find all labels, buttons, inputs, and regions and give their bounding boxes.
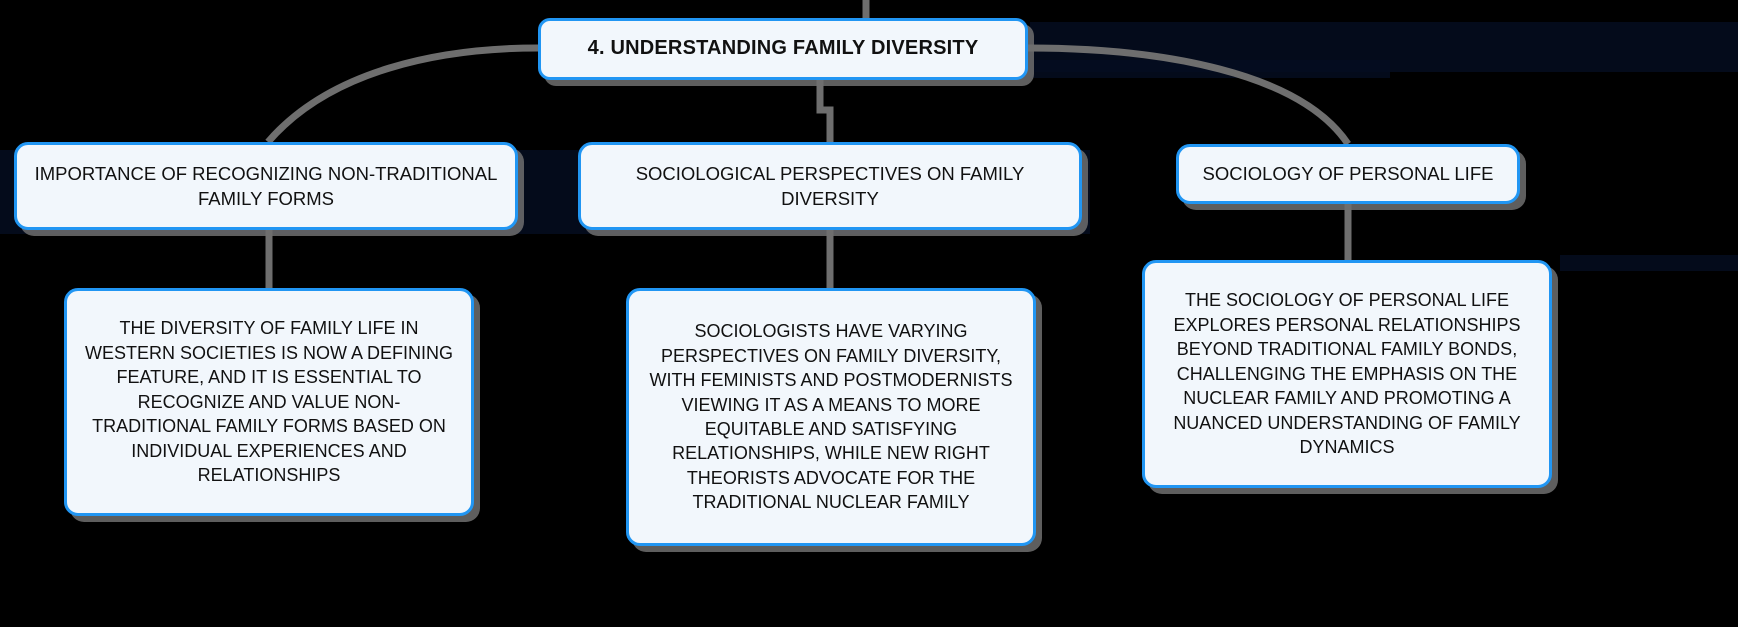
node-leaf-3[interactable]: THE SOCIOLOGY OF PERSONAL LIFE EXPLORES … xyxy=(1142,260,1552,488)
connector-root-to-branch-1 xyxy=(268,48,538,142)
mindmap-canvas: 4. UNDERSTANDING FAMILY DIVERSITY IMPORT… xyxy=(0,0,1738,627)
node-leaf-1-detail: THE DIVERSITY OF FAMILY LIFE IN WESTERN … xyxy=(67,316,471,487)
connector-root-to-branch-2 xyxy=(820,80,830,142)
node-branch-1[interactable]: IMPORTANCE OF RECOGNIZING NON-TRADITIONA… xyxy=(14,142,518,230)
node-branch-3[interactable]: SOCIOLOGY OF PERSONAL LIFE xyxy=(1176,144,1520,204)
node-leaf-1[interactable]: THE DIVERSITY OF FAMILY LIFE IN WESTERN … xyxy=(64,288,474,516)
connector-root-to-branch-3 xyxy=(1028,48,1348,144)
node-branch-1-label: IMPORTANCE OF RECOGNIZING NON-TRADITIONA… xyxy=(17,161,515,211)
node-root[interactable]: 4. UNDERSTANDING FAMILY DIVERSITY xyxy=(538,18,1028,80)
node-root-label: 4. UNDERSTANDING FAMILY DIVERSITY xyxy=(541,35,1025,62)
node-branch-3-label: SOCIOLOGY OF PERSONAL LIFE xyxy=(1179,161,1517,186)
node-branch-2-label: SOCIOLOGICAL PERSPECTIVES ON FAMILY DIVE… xyxy=(581,161,1079,211)
node-leaf-2-detail: SOCIOLOGISTS HAVE VARYING PERSPECTIVES O… xyxy=(629,319,1033,515)
node-leaf-2[interactable]: SOCIOLOGISTS HAVE VARYING PERSPECTIVES O… xyxy=(626,288,1036,546)
node-branch-2[interactable]: SOCIOLOGICAL PERSPECTIVES ON FAMILY DIVE… xyxy=(578,142,1082,230)
node-leaf-3-detail: THE SOCIOLOGY OF PERSONAL LIFE EXPLORES … xyxy=(1145,288,1549,459)
